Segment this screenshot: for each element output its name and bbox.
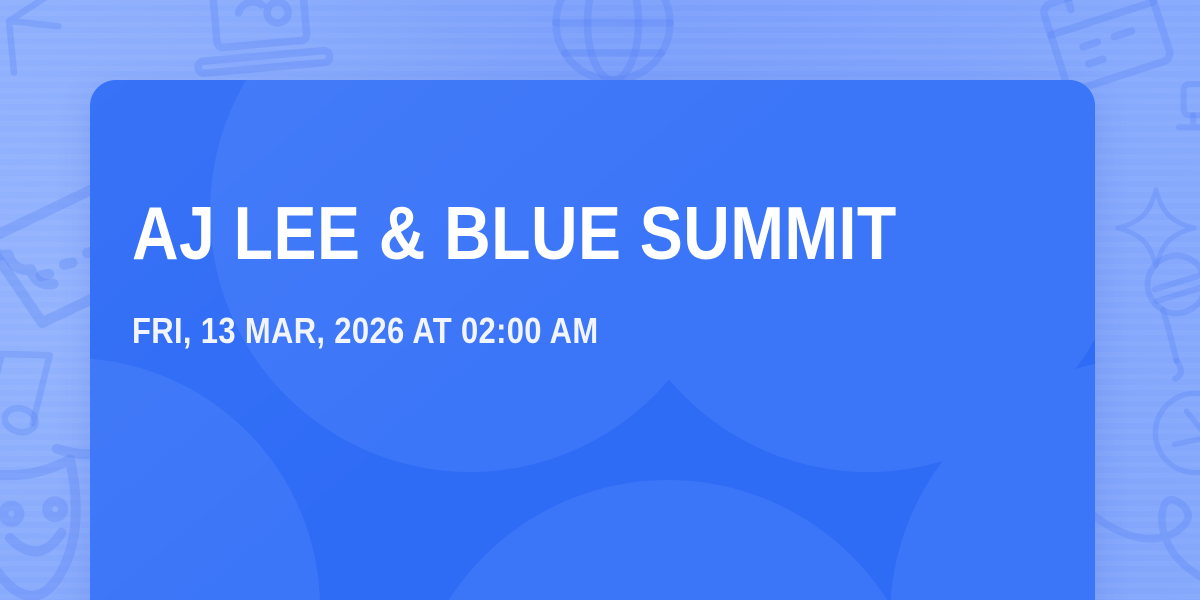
event-datetime: Fri, 13 Mar, 2026 at 02:00 AM [132, 313, 924, 349]
card-orb-bottom [408, 480, 928, 600]
event-card[interactable]: AJ Lee & Blue Summit Fri, 13 Mar, 2026 a… [90, 80, 1095, 600]
event-title: AJ Lee & Blue Summit [132, 198, 924, 269]
event-card-content: AJ Lee & Blue Summit Fri, 13 Mar, 2026 a… [132, 198, 1053, 349]
